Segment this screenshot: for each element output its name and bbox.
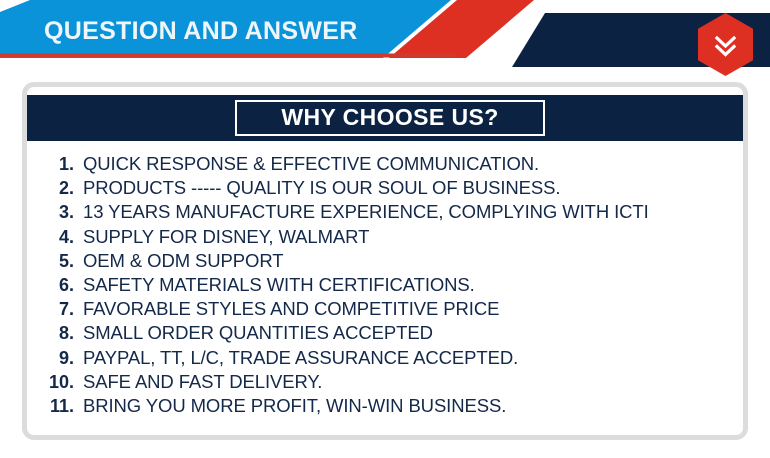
list-item-text: SAFETY MATERIALS WITH CERTIFICATIONS. (83, 274, 475, 296)
list-item: 9. PAYPAL, TT, L/C, TRADE ASSURANCE ACCE… (27, 347, 743, 371)
list-item-number: 6. (27, 275, 83, 296)
list-item-text: SMALL ORDER QUANTITIES ACCEPTED (83, 322, 433, 344)
list-item: 8. SMALL ORDER QUANTITIES ACCEPTED (27, 322, 743, 346)
page-banner: QUESTION AND ANSWER (0, 0, 770, 78)
list-item-text: PAYPAL, TT, L/C, TRADE ASSURANCE ACCEPTE… (83, 347, 518, 369)
banner-red-underline (0, 54, 456, 58)
list-item: 3. 13 YEARS MANUFACTURE EXPERIENCE, COMP… (27, 201, 743, 225)
list-item: 1. QUICK RESPONSE & EFFECTIVE COMMUNICAT… (27, 153, 743, 177)
list-item-number: 7. (27, 299, 83, 320)
list-item: 10. SAFE AND FAST DELIVERY. (27, 371, 743, 395)
list-item: 5. OEM & ODM SUPPORT (27, 250, 743, 274)
card-header-bar: WHY CHOOSE US? (22, 95, 748, 141)
list-item-text: PRODUCTS ----- QUALITY IS OUR SOUL OF BU… (83, 177, 560, 199)
card-header-title: WHY CHOOSE US? (281, 104, 498, 130)
list-item-number: 11. (27, 396, 83, 417)
list-item: 6. SAFETY MATERIALS WITH CERTIFICATIONS. (27, 274, 743, 298)
benefits-list: 1. QUICK RESPONSE & EFFECTIVE COMMUNICAT… (27, 153, 743, 419)
list-item-text: BRING YOU MORE PROFIT, WIN-WIN BUSINESS. (83, 395, 506, 417)
list-item-text: QUICK RESPONSE & EFFECTIVE COMMUNICATION… (83, 153, 539, 175)
list-item: 7. FAVORABLE STYLES AND COMPETITIVE PRIC… (27, 298, 743, 322)
list-item-text: OEM & ODM SUPPORT (83, 250, 283, 272)
list-item: 4. SUPPLY FOR DISNEY, WALMART (27, 226, 743, 250)
list-item-number: 9. (27, 348, 83, 369)
scroll-down-hexagon-button[interactable] (698, 13, 753, 76)
list-item: 2. PRODUCTS ----- QUALITY IS OUR SOUL OF… (27, 177, 743, 201)
list-item-number: 4. (27, 227, 83, 248)
list-item-text: SUPPLY FOR DISNEY, WALMART (83, 226, 369, 248)
banner-title: QUESTION AND ANSWER (44, 16, 358, 46)
list-item-number: 5. (27, 251, 83, 272)
list-item-text: 13 YEARS MANUFACTURE EXPERIENCE, COMPLYI… (83, 201, 649, 223)
list-item-number: 10. (27, 372, 83, 393)
list-item-number: 1. (27, 154, 83, 175)
list-item: 11. BRING YOU MORE PROFIT, WIN-WIN BUSIN… (27, 395, 743, 419)
list-item-number: 8. (27, 323, 83, 344)
why-choose-us-card: WHY CHOOSE US? 1. QUICK RESPONSE & EFFEC… (22, 82, 748, 440)
list-item-number: 2. (27, 178, 83, 199)
list-item-text: FAVORABLE STYLES AND COMPETITIVE PRICE (83, 298, 499, 320)
list-item-number: 3. (27, 202, 83, 223)
list-item-text: SAFE AND FAST DELIVERY. (83, 371, 322, 393)
card-header-outline-box: WHY CHOOSE US? (235, 100, 544, 136)
